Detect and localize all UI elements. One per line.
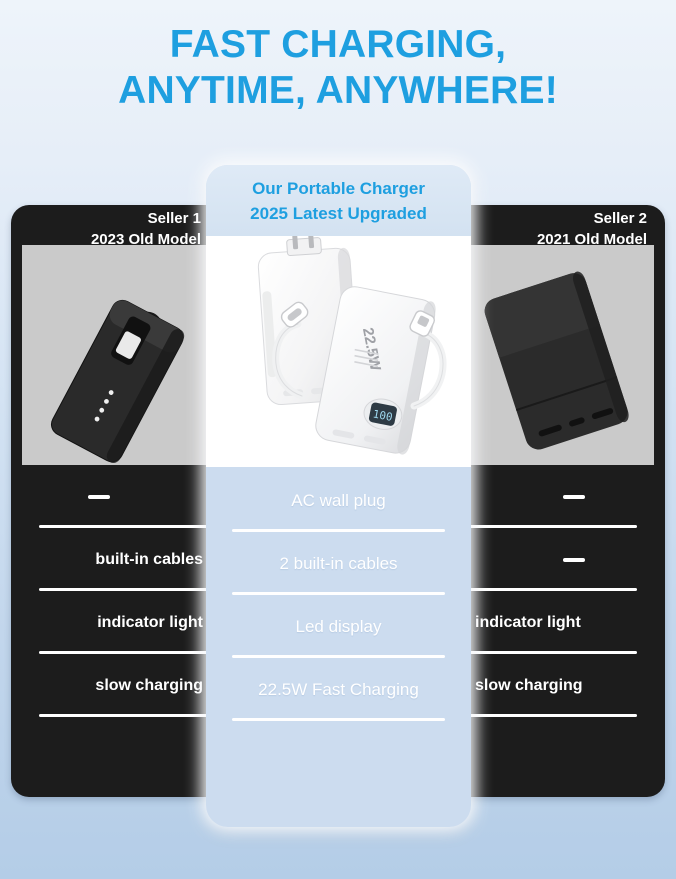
seller-1-feature-text: —: [88, 495, 110, 499]
seller-2-feature-text: —: [563, 558, 585, 562]
seller-1-name: Seller 1: [25, 209, 201, 230]
seller-2-feature-row: slow charging: [453, 654, 665, 717]
seller-2-feature-row: —: [453, 528, 665, 591]
seller-1-feature-text: slow charging: [95, 677, 203, 695]
featured-feature-row: Led display: [206, 595, 471, 658]
featured-product-title-line-2: 2025 Latest Upgraded: [206, 202, 471, 227]
divider: [459, 714, 637, 717]
page-title-line-2: ANYTIME, ANYWHERE!: [0, 68, 676, 114]
featured-feature-row: 22.5W Fast Charging: [206, 658, 471, 721]
comparison-column-seller-2: Seller 2 2021 Old Model —: [453, 205, 665, 797]
seller-1-feature-row: built-in cables: [11, 528, 223, 591]
featured-product-header: Our Portable Charger 2025 Latest Upgrade…: [206, 165, 471, 236]
featured-feature-text: Led display: [295, 617, 381, 637]
seller-2-product-image: [453, 245, 654, 465]
featured-feature-text: AC wall plug: [291, 491, 386, 511]
featured-feature-row: AC wall plug: [206, 469, 471, 532]
black-flat-power-bank-icon: [453, 245, 654, 465]
page-title-line-1: FAST CHARGING,: [170, 23, 506, 66]
seller-2-feature-row: —: [453, 465, 665, 528]
ac-wall-plug-prongs: [286, 236, 321, 256]
seller-1-feature-row: slow charging: [11, 654, 223, 717]
comparison-column-seller-1: Seller 1 2023 Old Model: [11, 205, 223, 797]
seller-1-feature-list: — built-in cables indicator light slow c…: [11, 465, 223, 717]
seller-2-feature-text: slow charging: [475, 677, 583, 695]
seller-2-name: Seller 2: [467, 209, 647, 230]
divider: [232, 718, 445, 721]
page-title: FAST CHARGING, ANYTIME, ANYWHERE!: [0, 22, 676, 114]
black-power-bank-with-loop-icon: [22, 245, 223, 465]
featured-feature-row: 2 built-in cables: [206, 532, 471, 595]
seller-2-feature-text: —: [563, 495, 585, 499]
seller-2-header: Seller 2 2021 Old Model: [453, 205, 665, 245]
featured-product-image: 22.5W 100: [206, 236, 471, 467]
featured-product-feature-list: AC wall plug 2 built-in cables Led displ…: [206, 467, 471, 721]
seller-2-feature-list: — — indicator light slow charging: [453, 465, 665, 717]
white-power-bank-pair-icon: 22.5W 100: [206, 236, 471, 467]
seller-1-feature-row: —: [11, 465, 223, 528]
seller-1-feature-text: indicator light: [97, 614, 203, 632]
seller-1-product-image: [22, 245, 223, 465]
divider: [39, 714, 217, 717]
featured-feature-text: 2 built-in cables: [279, 554, 397, 574]
seller-1-header: Seller 1 2023 Old Model: [11, 205, 223, 245]
seller-1-feature-text: built-in cables: [95, 551, 203, 569]
comparison-column-featured-product: Our Portable Charger 2025 Latest Upgrade…: [206, 165, 471, 827]
featured-product-title-line-1: Our Portable Charger: [206, 177, 471, 202]
seller-2-feature-text: indicator light: [475, 614, 581, 632]
featured-feature-text: 22.5W Fast Charging: [258, 680, 419, 700]
seller-2-feature-row: indicator light: [453, 591, 665, 654]
seller-1-feature-row: indicator light: [11, 591, 223, 654]
